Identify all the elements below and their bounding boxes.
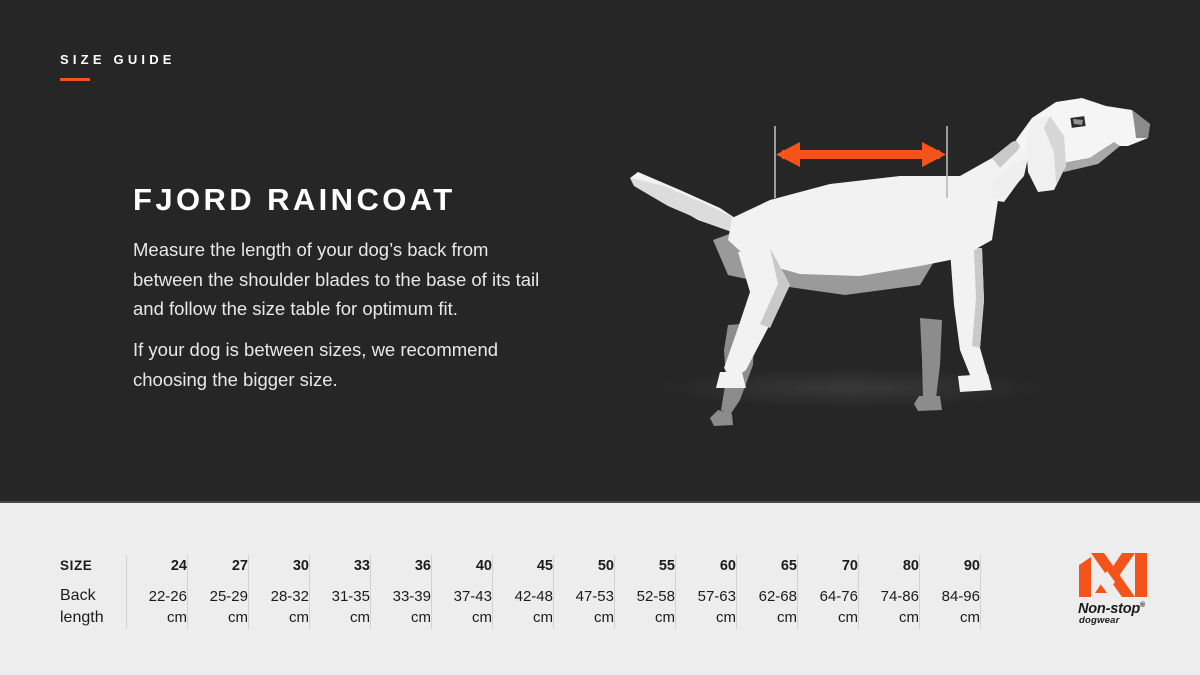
size-cell-8: 55 — [615, 555, 676, 577]
back-length-value: 25-29cm — [188, 577, 248, 628]
size-value: 80 — [859, 555, 919, 577]
back-length-value: 31-35cm — [310, 577, 370, 628]
size-cell-10: 65 — [737, 555, 798, 577]
size-cell-6: 45 — [493, 555, 554, 577]
dog-illustration — [620, 80, 1160, 440]
range-text: 64-76 — [820, 588, 858, 605]
size-cell-7: 50 — [554, 555, 615, 577]
size-cell-5: 40 — [432, 555, 493, 577]
size-value: 33 — [310, 555, 370, 577]
back-length-value: 64-76cm — [798, 577, 858, 628]
range-text: 47-53 — [576, 588, 614, 605]
size-cell-1: 27 — [188, 555, 249, 577]
back-length-cell-13: 84-96cm — [920, 577, 981, 629]
back-length-arrow — [620, 80, 1160, 440]
table-end-divider — [981, 577, 982, 629]
back-length-value: 57-63cm — [676, 577, 736, 628]
description-paragraph-2: If your dog is between sizes, we recomme… — [133, 335, 553, 394]
back-length-value: 22-26cm — [127, 577, 187, 628]
back-length-value: 42-48cm — [493, 577, 553, 628]
back-length-cell-9: 57-63cm — [676, 577, 737, 629]
size-row-label: SIZE — [60, 555, 126, 577]
back-length-row-label: Backlength — [60, 577, 126, 629]
description-paragraph-1: Measure the length of your dog’s back fr… — [133, 235, 553, 324]
size-value: 45 — [493, 555, 553, 577]
unit-label: cm — [493, 607, 553, 628]
registered-mark: ® — [1140, 602, 1145, 609]
size-value: 27 — [188, 555, 248, 577]
hero-panel: SIZE GUIDE FJORD RAINCOAT Measure the le… — [0, 0, 1200, 503]
back-length-cell-10: 62-68cm — [737, 577, 798, 629]
brand-tagline: dogwear — [1079, 615, 1119, 626]
size-cell-3: 33 — [310, 555, 371, 577]
back-length-value: 52-58cm — [615, 577, 675, 628]
eyebrow-underline — [60, 78, 90, 81]
unit-label: cm — [676, 607, 736, 628]
size-cell-13: 90 — [920, 555, 981, 577]
size-cell-2: 30 — [249, 555, 310, 577]
size-value: 24 — [127, 555, 187, 577]
table-end-divider — [981, 555, 982, 577]
range-text: 33-39 — [393, 588, 431, 605]
unit-label: cm — [310, 607, 370, 628]
size-cell-12: 80 — [859, 555, 920, 577]
back-length-value: 62-68cm — [737, 577, 797, 628]
unit-label: cm — [249, 607, 309, 628]
row-label-cell: SIZE Backlength — [60, 555, 127, 629]
back-length-value: 33-39cm — [371, 577, 431, 628]
range-text: 42-48 — [515, 588, 553, 605]
back-length-cell-6: 42-48cm — [493, 577, 554, 629]
unit-label: cm — [188, 607, 248, 628]
unit-label: cm — [371, 607, 431, 628]
back-length-cell-1: 25-29cm — [188, 577, 249, 629]
size-value: 36 — [371, 555, 431, 577]
range-text: 52-58 — [637, 588, 675, 605]
back-length-cell-7: 47-53cm — [554, 577, 615, 629]
range-text: 31-35 — [332, 588, 370, 605]
size-value: 55 — [615, 555, 675, 577]
back-length-cell-3: 31-35cm — [310, 577, 371, 629]
unit-label: cm — [798, 607, 858, 628]
unit-label: cm — [554, 607, 614, 628]
size-value: 60 — [676, 555, 736, 577]
range-text: 84-96 — [942, 588, 980, 605]
unit-label: cm — [432, 607, 492, 628]
back-length-cell-12: 74-86cm — [859, 577, 920, 629]
back-length-value: 37-43cm — [432, 577, 492, 628]
unit-label: cm — [615, 607, 675, 628]
back-length-cell-0: 22-26cm — [127, 577, 188, 629]
range-text: 25-29 — [210, 588, 248, 605]
back-length-cell-4: 33-39cm — [371, 577, 432, 629]
page-title: FJORD RAINCOAT — [133, 182, 456, 218]
size-cell-9: 60 — [676, 555, 737, 577]
size-value: 50 — [554, 555, 614, 577]
range-text: 37-43 — [454, 588, 492, 605]
range-text: 57-63 — [698, 588, 736, 605]
back-length-cell-2: 28-32cm — [249, 577, 310, 629]
unit-label: cm — [920, 607, 980, 628]
table-row-size: SIZE Backlength 24 27 30 33 36 40 45 50 … — [60, 555, 981, 577]
size-cell-11: 70 — [798, 555, 859, 577]
size-guide-page: SIZE GUIDE FJORD RAINCOAT Measure the le… — [0, 0, 1200, 675]
back-length-value: 74-86cm — [859, 577, 919, 628]
table-row-back-length: 22-26cm 25-29cm 28-32cm 31-35cm 33-39cm … — [60, 577, 981, 629]
range-text: 62-68 — [759, 588, 797, 605]
size-value: 70 — [798, 555, 858, 577]
size-cell-0: 24 — [127, 555, 188, 577]
back-length-value: 47-53cm — [554, 577, 614, 628]
size-table: SIZE Backlength 24 27 30 33 36 40 45 50 … — [60, 555, 981, 629]
back-length-cell-11: 64-76cm — [798, 577, 859, 629]
unit-label: cm — [127, 607, 187, 628]
range-text: 28-32 — [271, 588, 309, 605]
unit-label: cm — [859, 607, 919, 628]
unit-label: cm — [737, 607, 797, 628]
back-length-value: 84-96cm — [920, 577, 980, 628]
size-table-panel: SIZE Backlength 24 27 30 33 36 40 45 50 … — [0, 503, 1200, 675]
range-text: 22-26 — [149, 588, 187, 605]
size-value: 40 — [432, 555, 492, 577]
back-length-cell-8: 52-58cm — [615, 577, 676, 629]
back-length-cell-5: 37-43cm — [432, 577, 493, 629]
size-value: 30 — [249, 555, 309, 577]
size-value: 90 — [920, 555, 980, 577]
size-cell-4: 36 — [371, 555, 432, 577]
back-length-value: 28-32cm — [249, 577, 309, 628]
range-text: 74-86 — [881, 588, 919, 605]
non-stop-logo-icon — [1077, 551, 1149, 599]
page-eyebrow: SIZE GUIDE — [60, 52, 176, 67]
size-value: 65 — [737, 555, 797, 577]
brand-logo: Non-stop® dogwear — [1077, 551, 1149, 629]
